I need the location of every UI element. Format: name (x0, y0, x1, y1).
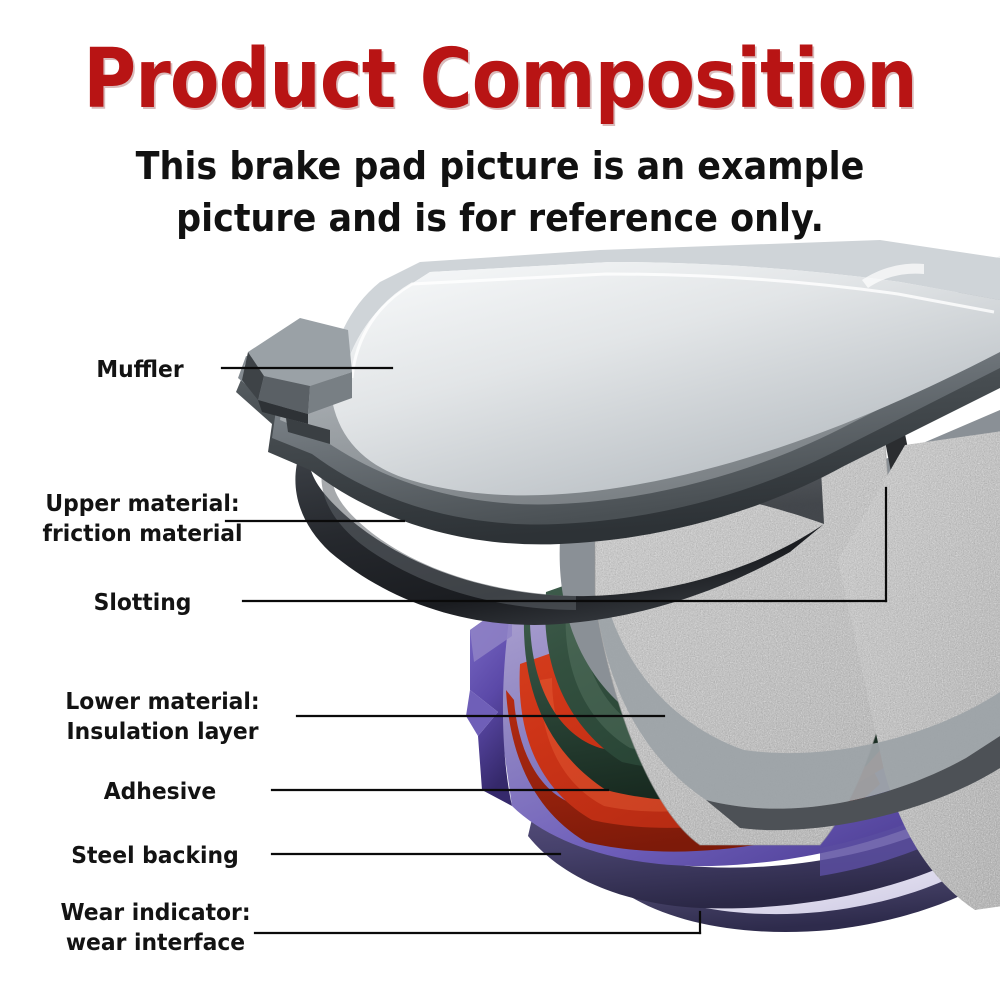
product-composition-infographic: Product Composition This brake pad pictu… (0, 0, 1000, 1000)
label-adhesive: Adhesive (79, 777, 241, 807)
label-lower-material: Lower material: Insulation layer (51, 687, 274, 747)
label-wear-indicator: Wear indicator: wear interface (53, 898, 257, 958)
label-slotting: Slotting (64, 588, 221, 618)
label-upper-material: Upper material: friction material (36, 489, 250, 549)
label-muffler: Muffler (64, 355, 216, 385)
label-steel-backing: Steel backing (60, 841, 250, 871)
